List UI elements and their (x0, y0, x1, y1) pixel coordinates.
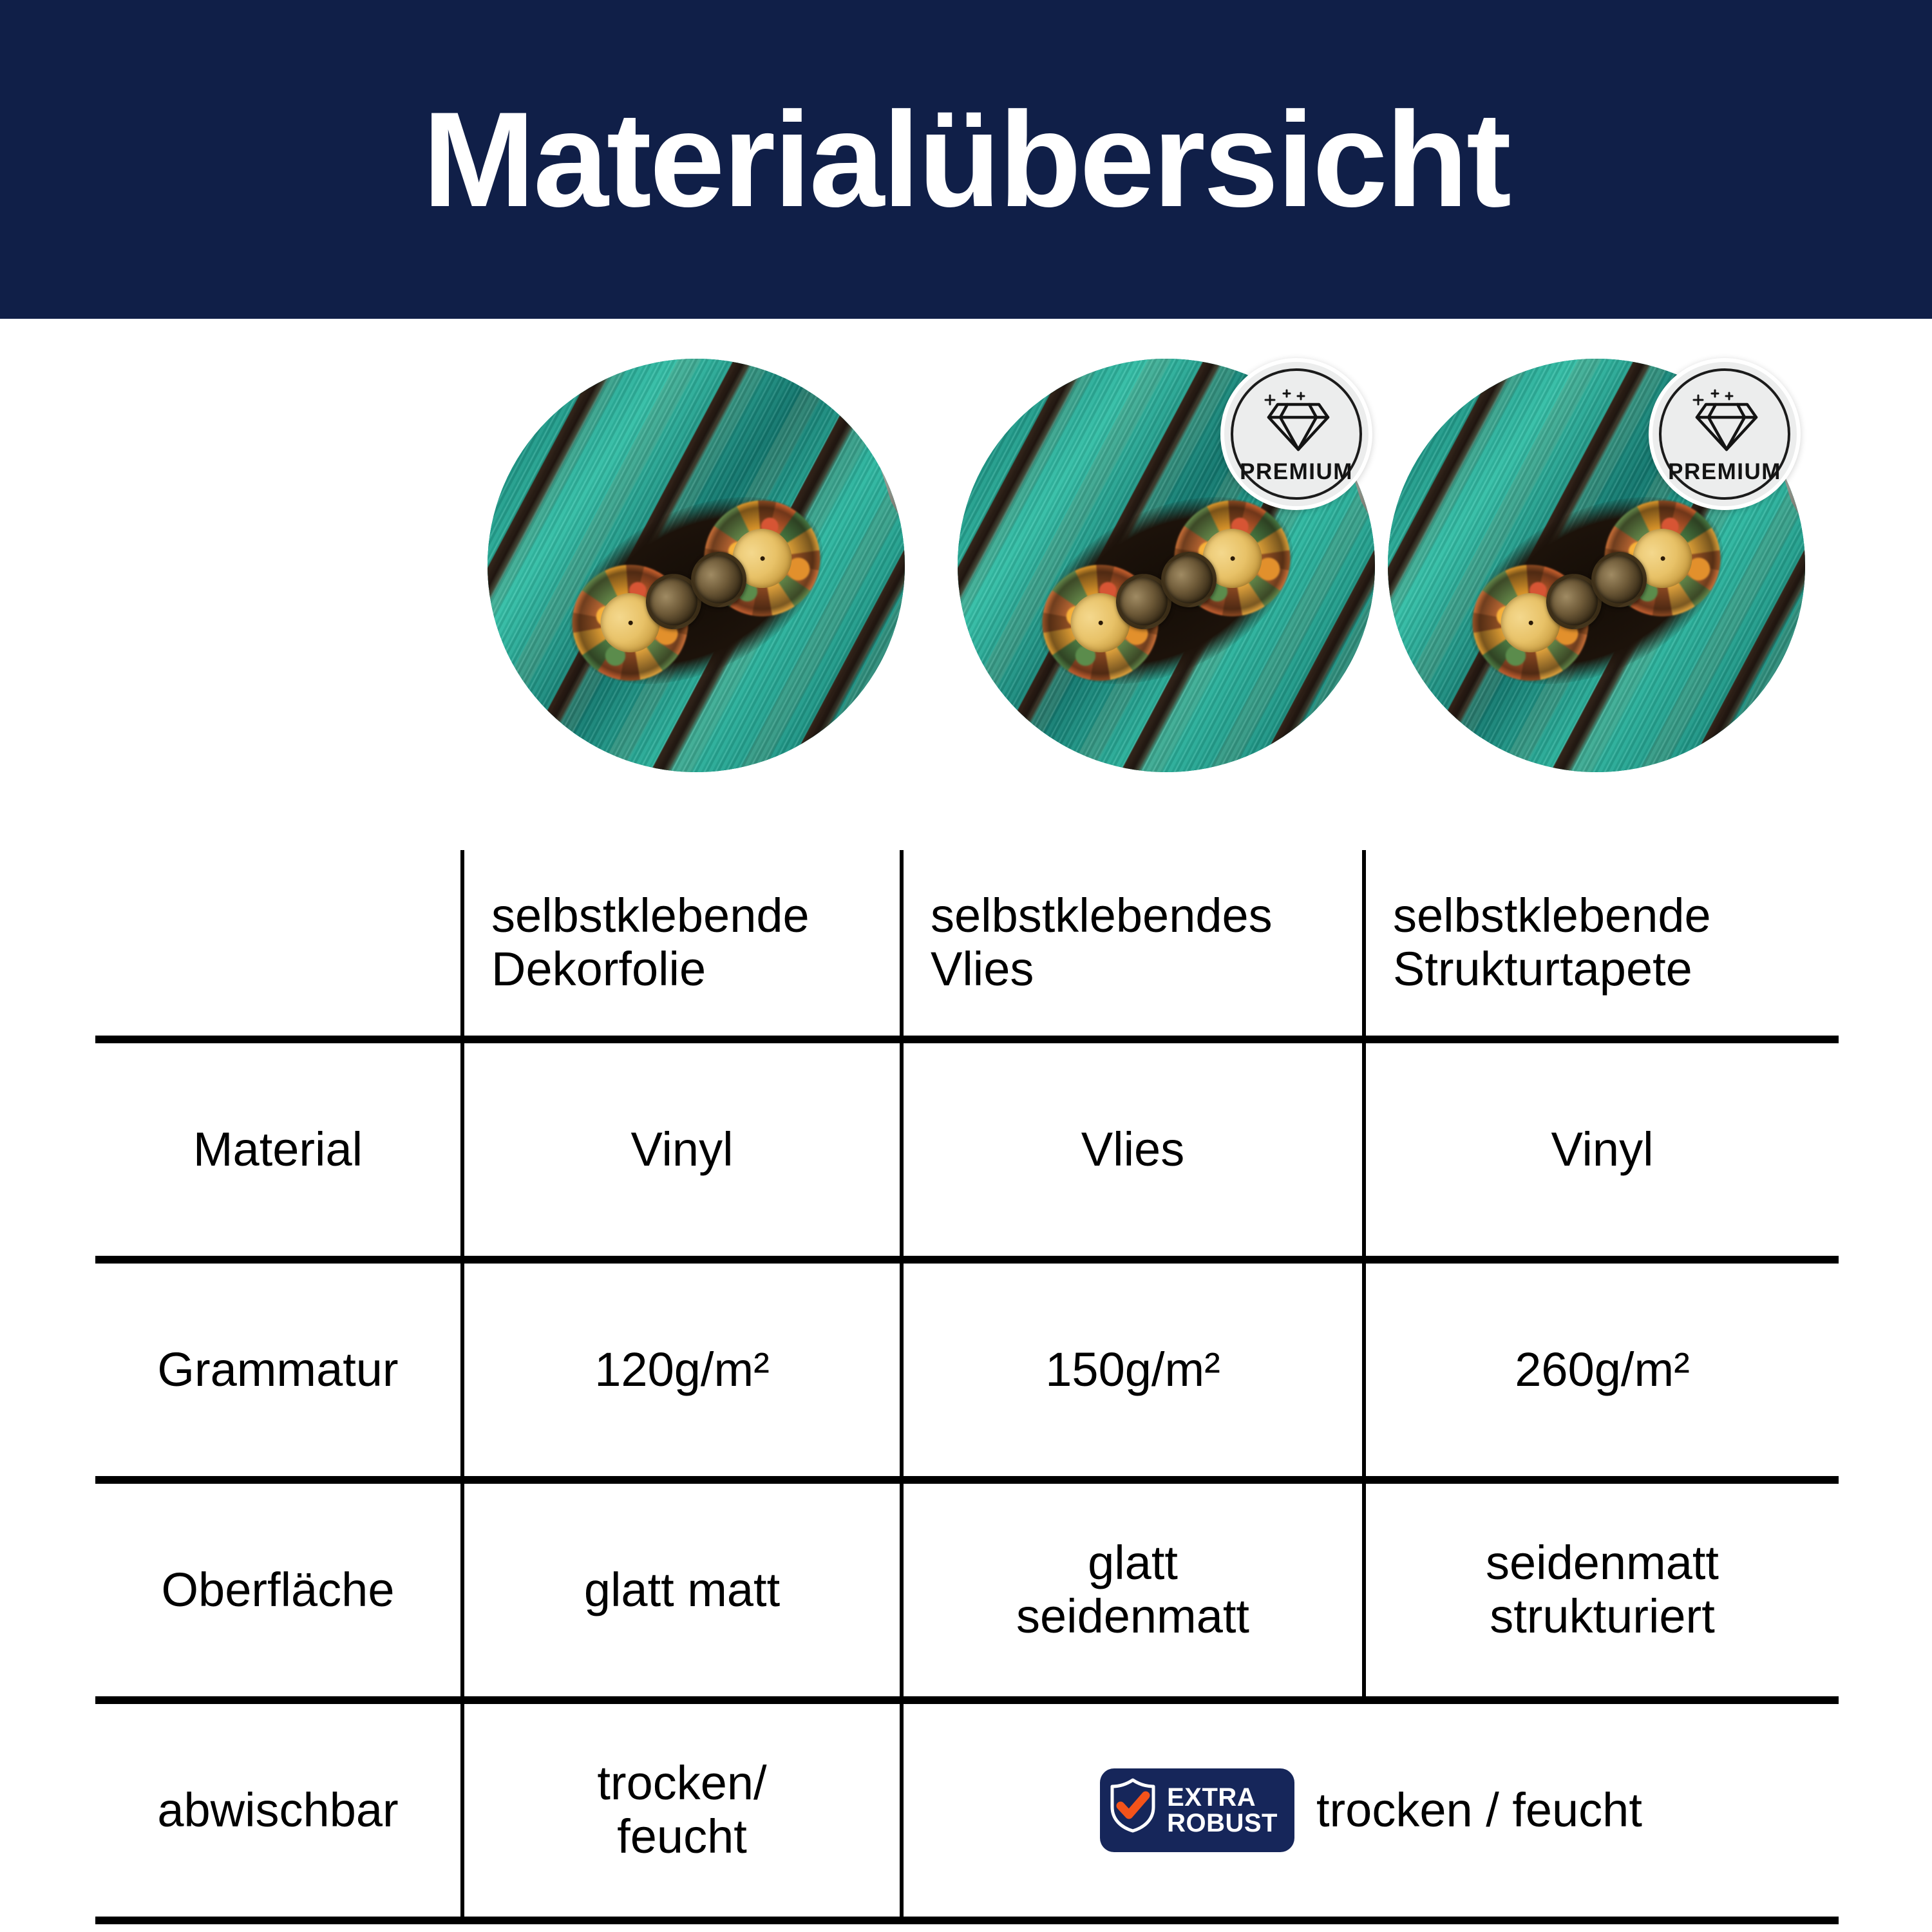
premium-badge-2: PREMIUM (1220, 358, 1372, 510)
column-header-line2: Strukturtapete (1393, 943, 1839, 996)
cell-oberflaeche-vlies: glatt seidenmatt (902, 1480, 1364, 1700)
row-label-material: Material (95, 1039, 462, 1260)
diamond-icon (1687, 388, 1763, 455)
cell-grammatur-dekorfolie: 120g/m² (462, 1260, 902, 1480)
column-header-line2: Dekorfolie (491, 943, 900, 996)
column-header-vlies: selbstklebendes Vlies (902, 850, 1364, 1039)
row-label-abwischbar: abwischbar (95, 1700, 462, 1920)
cell-material-strukturtapete: Vinyl (1364, 1039, 1839, 1260)
cell-grammatur-strukturtapete: 260g/m² (1364, 1260, 1839, 1480)
cell-line1: trocken/ (464, 1757, 900, 1810)
page-header: Materialübersicht (0, 0, 1932, 319)
column-header-line2: Vlies (931, 943, 1362, 996)
column-header-line1: selbstklebende (491, 889, 900, 943)
cell-line2: feucht (464, 1810, 900, 1864)
table-header-row: selbstklebende Dekorfolie selbstklebende… (95, 850, 1839, 1039)
product-preview-row (0, 357, 1932, 776)
premium-badge-label: PREMIUM (1240, 459, 1353, 485)
cell-line1: seidenmatt (1366, 1537, 1839, 1590)
table-row-oberflaeche: Oberfläche glatt matt glatt seidenmatt s… (95, 1480, 1839, 1700)
column-header-line1: selbstklebende (1393, 889, 1839, 943)
table-row-grammatur: Grammatur 120g/m² 150g/m² 260g/m² (95, 1260, 1839, 1480)
page-title: Materialübersicht (422, 92, 1510, 227)
column-header-strukturtapete: selbstklebende Strukturtapete (1364, 850, 1839, 1039)
cell-line1: glatt (904, 1537, 1362, 1590)
column-header-line1: selbstklebendes (931, 889, 1362, 943)
cell-line2: seidenmatt (904, 1590, 1362, 1643)
premium-badge-label: PREMIUM (1668, 459, 1781, 485)
premium-badge-3: PREMIUM (1649, 358, 1801, 510)
table-row-abwischbar: abwischbar trocken/ feucht (95, 1700, 1839, 1920)
cell-grammatur-vlies: 150g/m² (902, 1260, 1364, 1480)
diamond-icon (1258, 388, 1334, 455)
product-preview-1[interactable] (488, 359, 905, 772)
cell-abwischbar-merged: EXTRA ROBUST trocken / feucht (902, 1700, 1839, 1920)
cell-oberflaeche-strukturtapete: seidenmatt strukturiert (1364, 1480, 1839, 1700)
header-blank-cell (95, 850, 462, 1039)
cell-material-vlies: Vlies (902, 1039, 1364, 1260)
cell-line2: strukturiert (1366, 1590, 1839, 1643)
shield-check-icon (1109, 1777, 1157, 1844)
row-label-oberflaeche: Oberfläche (95, 1480, 462, 1700)
cell-abwischbar-merged-text: trocken / feucht (1316, 1784, 1642, 1837)
table-row-material: Material Vinyl Vlies Vinyl (95, 1039, 1839, 1260)
cell-oberflaeche-dekorfolie: glatt matt (462, 1480, 902, 1700)
column-header-dekorfolie: selbstklebende Dekorfolie (462, 850, 902, 1039)
cell-material-dekorfolie: Vinyl (462, 1039, 902, 1260)
material-spec-table: selbstklebende Dekorfolie selbstklebende… (95, 850, 1839, 1924)
extra-robust-line1: EXTRA (1167, 1785, 1256, 1810)
extra-robust-line2: ROBUST (1167, 1810, 1278, 1836)
extra-robust-badge: EXTRA ROBUST (1100, 1768, 1294, 1853)
cell-abwischbar-dekorfolie: trocken/ feucht (462, 1700, 902, 1920)
row-label-grammatur: Grammatur (95, 1260, 462, 1480)
product-image-circle-1 (488, 359, 905, 772)
cell-line1: glatt matt (464, 1564, 900, 1617)
